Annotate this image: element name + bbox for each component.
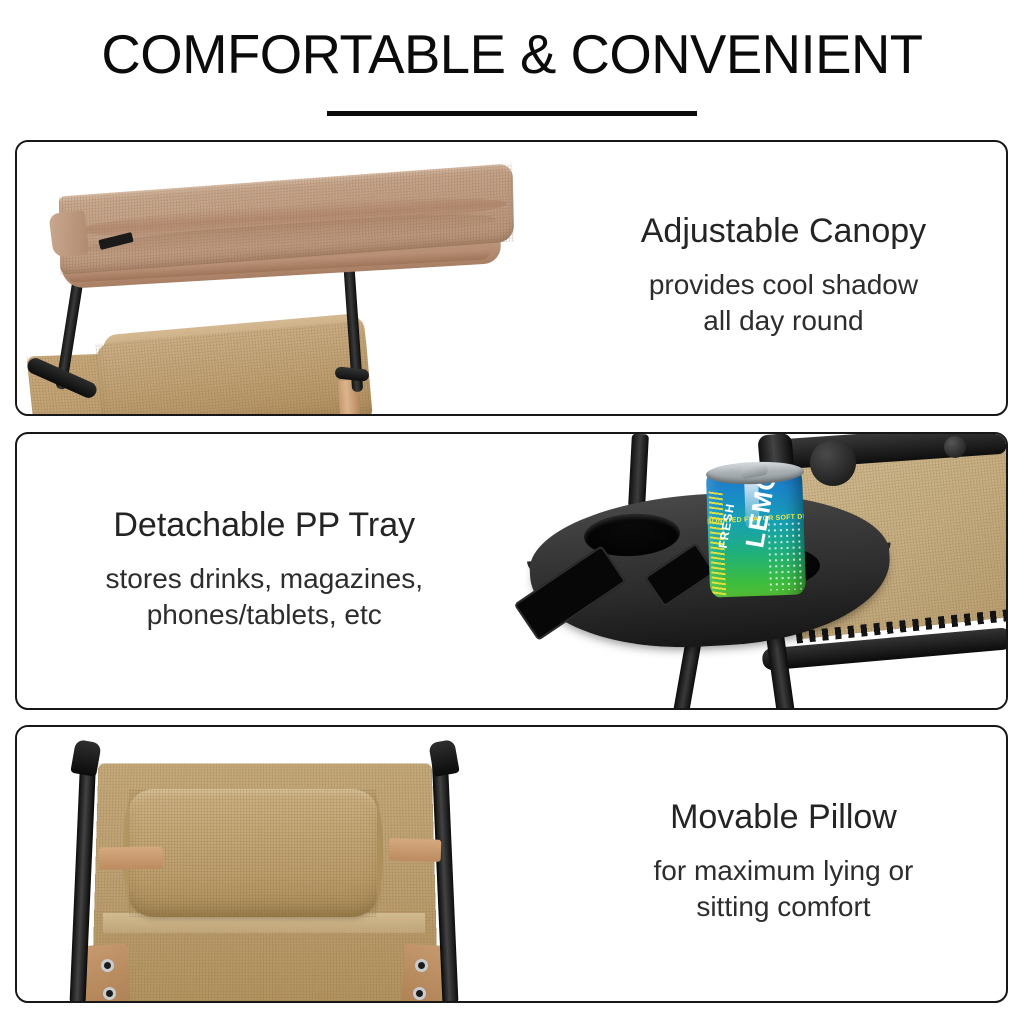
feature-desc-line-2: phones/tablets, etc [106, 597, 423, 633]
soda-can: CARBONATED FLAVOR SOFT DRINK FRESH LEMON [705, 466, 805, 597]
grommet-left-bottom [103, 987, 116, 1000]
feature-panel-adjustable-canopy: Adjustable Canopy provides cool shadow a… [15, 140, 1008, 416]
canopy-photo [17, 142, 561, 414]
header: COMFORTABLE & CONVENIENT [0, 0, 1024, 140]
feature-panel-detachable-pp-tray: Detachable PP Tray stores drinks, magazi… [15, 432, 1008, 710]
pillow-text-block: Movable Pillow for maximum lying or sitt… [561, 727, 1006, 1001]
feature-desc-adjustable-canopy: provides cool shadow all day round [649, 267, 918, 340]
feature-panel-movable-pillow: Movable Pillow for maximum lying or sitt… [15, 725, 1008, 1003]
feature-desc-line-2: all day round [649, 303, 918, 339]
feature-desc-detachable-pp-tray: stores drinks, magazines, phones/tablets… [106, 561, 423, 634]
infographic-page: COMFORTABLE & CONVENIENT [0, 0, 1024, 1024]
canopy-text-block: Adjustable Canopy provides cool shadow a… [561, 142, 1006, 414]
feature-title-detachable-pp-tray: Detachable PP Tray [113, 505, 415, 545]
frame-cap-left [70, 739, 102, 777]
chair-bolt-cap [944, 436, 966, 458]
pillow-photo [17, 727, 561, 1001]
tray-text-block: Detachable PP Tray stores drinks, magazi… [17, 434, 512, 708]
pillow-strap-left [99, 846, 163, 869]
feature-desc-line-1: for maximum lying or [654, 853, 914, 889]
grommet-right-bottom [413, 987, 426, 1000]
tray-photo: CARBONATED FLAVOR SOFT DRINK FRESH LEMON [512, 434, 1007, 708]
movable-pillow-bolster [129, 789, 377, 917]
page-title: COMFORTABLE & CONVENIENT [5, 22, 1019, 86]
bolster-mesh-texture [129, 789, 377, 917]
grommet-right-top [415, 959, 428, 972]
feature-desc-line-1: provides cool shadow [649, 267, 918, 303]
chair-pivot-knob [810, 440, 856, 486]
feature-title-movable-pillow: Movable Pillow [670, 797, 897, 837]
feature-desc-line-1: stores drinks, magazines, [106, 561, 423, 597]
canopy-photo-scene [17, 142, 561, 414]
feature-title-adjustable-canopy: Adjustable Canopy [641, 211, 926, 251]
tray-photo-scene: CARBONATED FLAVOR SOFT DRINK FRESH LEMON [512, 434, 1007, 708]
grommet-left-top [101, 959, 114, 972]
feature-desc-movable-pillow: for maximum lying or sitting comfort [654, 853, 914, 926]
pillow-photo-scene [17, 727, 561, 1001]
pillow-strap-right [389, 838, 442, 862]
chair-back-post [628, 434, 649, 508]
canopy-end-cap [48, 210, 89, 258]
frame-cap-right [428, 739, 460, 777]
feature-desc-line-2: sitting comfort [654, 889, 914, 925]
title-underline-rule [327, 111, 697, 116]
